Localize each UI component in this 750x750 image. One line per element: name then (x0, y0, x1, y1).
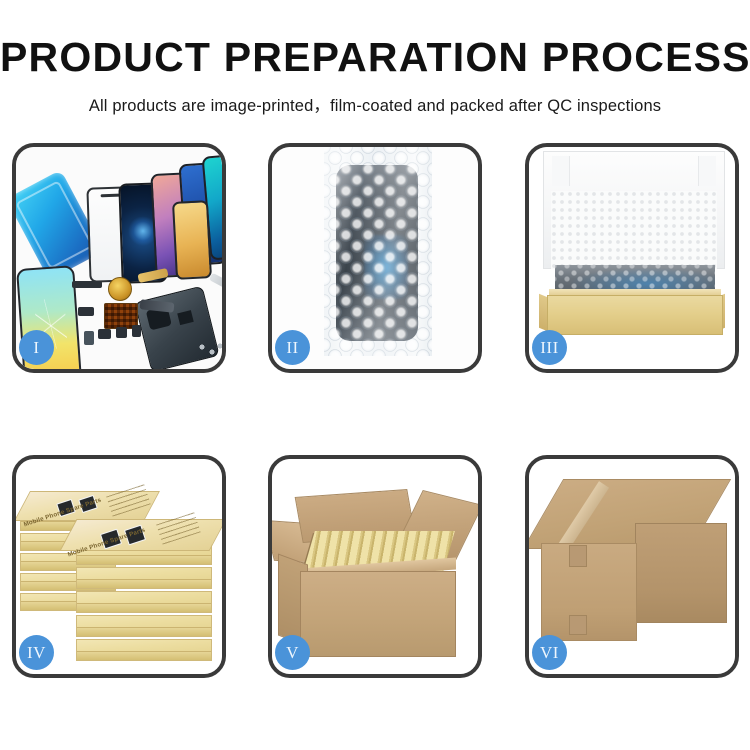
step-badge-5-numeral: V (286, 644, 299, 661)
step-badge-3-numeral: III (540, 339, 558, 356)
step-badge-1: I (19, 330, 54, 365)
step-badge-5: V (275, 635, 310, 670)
connector-strip-image (72, 281, 102, 288)
step-badge-2-numeral: II (286, 339, 298, 356)
step-panel-2: II (268, 143, 482, 373)
coil-part-image (108, 277, 132, 301)
step-badge-1-numeral: I (33, 339, 39, 356)
sealed-carton-front-face-image (541, 543, 637, 641)
foam-liner-image (551, 191, 717, 269)
step-panel-6: VI (525, 455, 739, 678)
small-part-image (98, 329, 111, 339)
small-part-image (132, 325, 141, 337)
step-badge-6-numeral: VI (540, 644, 559, 661)
step-panel-3: III (525, 143, 739, 373)
step-badge-3: III (532, 330, 567, 365)
mailer-lid-tab-right (698, 156, 716, 186)
step-badge-4-numeral: IV (27, 644, 46, 661)
steps-grid: I II (0, 0, 750, 750)
retail-box (76, 591, 212, 613)
carton-flap-seam (569, 615, 587, 635)
carton-flap-seam (569, 545, 587, 567)
sealed-carton-right-face-image (635, 523, 727, 623)
step-panel-1: I (12, 143, 226, 373)
mailer-lid-tab-left (552, 156, 570, 186)
screws-image (198, 343, 222, 357)
mailer-box-front-image (547, 295, 723, 335)
step-panel-4: Mobile Phone Spare Parts Mobile Phone Sp… (12, 455, 226, 678)
step-panel-5: V (268, 455, 482, 678)
small-part-image (84, 331, 94, 345)
retail-box (76, 615, 212, 637)
step-badge-2: II (275, 330, 310, 365)
retail-box-stack-image: Mobile Phone Spare Parts Mobile Phone Sp… (16, 469, 222, 665)
phone-screen-gold-image (172, 200, 212, 280)
retail-box (76, 639, 212, 661)
retail-box (76, 567, 212, 589)
step-badge-4: IV (19, 635, 54, 670)
product-preparation-infographic: PRODUCT PREPARATION PROCESS All products… (0, 0, 750, 750)
step-badge-6: VI (532, 635, 567, 670)
plastic-sheen-image (324, 147, 432, 356)
small-part-image (78, 307, 94, 316)
small-part-image (116, 327, 127, 338)
carton-front-image (300, 571, 456, 657)
